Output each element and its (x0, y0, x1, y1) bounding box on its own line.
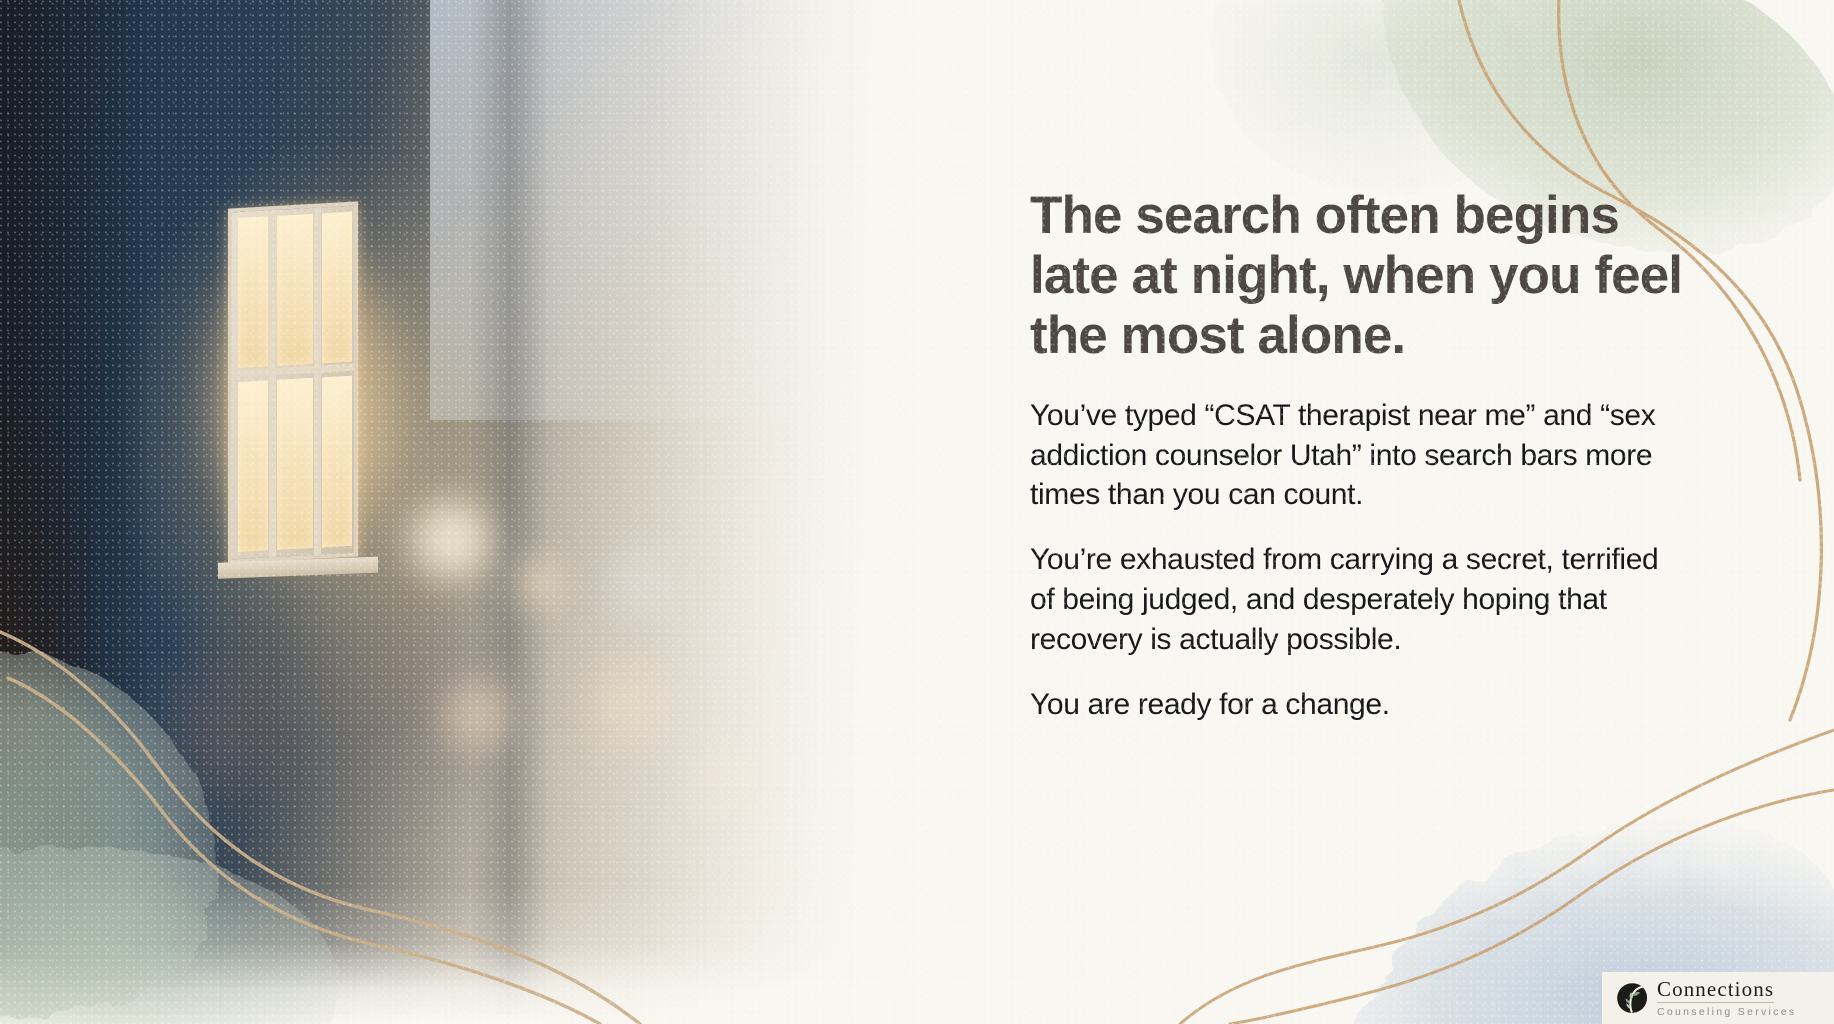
body-paragraph-2: You’re exhausted from carrying a secret,… (1030, 540, 1680, 660)
leafy-branch-circle-icon (1616, 982, 1648, 1014)
photo-bottom-fade (0, 884, 900, 1024)
brand-logo[interactable]: Connections Counseling Services (1602, 972, 1834, 1024)
photo-right-fade (0, 0, 900, 1024)
logo-title: Connections (1657, 979, 1774, 1003)
body-paragraph-1: You’ve typed “CSAT therapist near me” an… (1030, 396, 1680, 516)
logo-wordmark: Connections Counseling Services (1657, 979, 1796, 1018)
logo-subtitle: Counseling Services (1657, 1007, 1796, 1018)
slide-canvas: The search often begins late at night, w… (0, 0, 1834, 1024)
text-content-block: The search often begins late at night, w… (1030, 186, 1690, 725)
page-title: The search often begins late at night, w… (1030, 186, 1690, 366)
body-paragraph-3: You are ready for a change. (1030, 685, 1680, 725)
hero-photo (0, 0, 900, 1024)
